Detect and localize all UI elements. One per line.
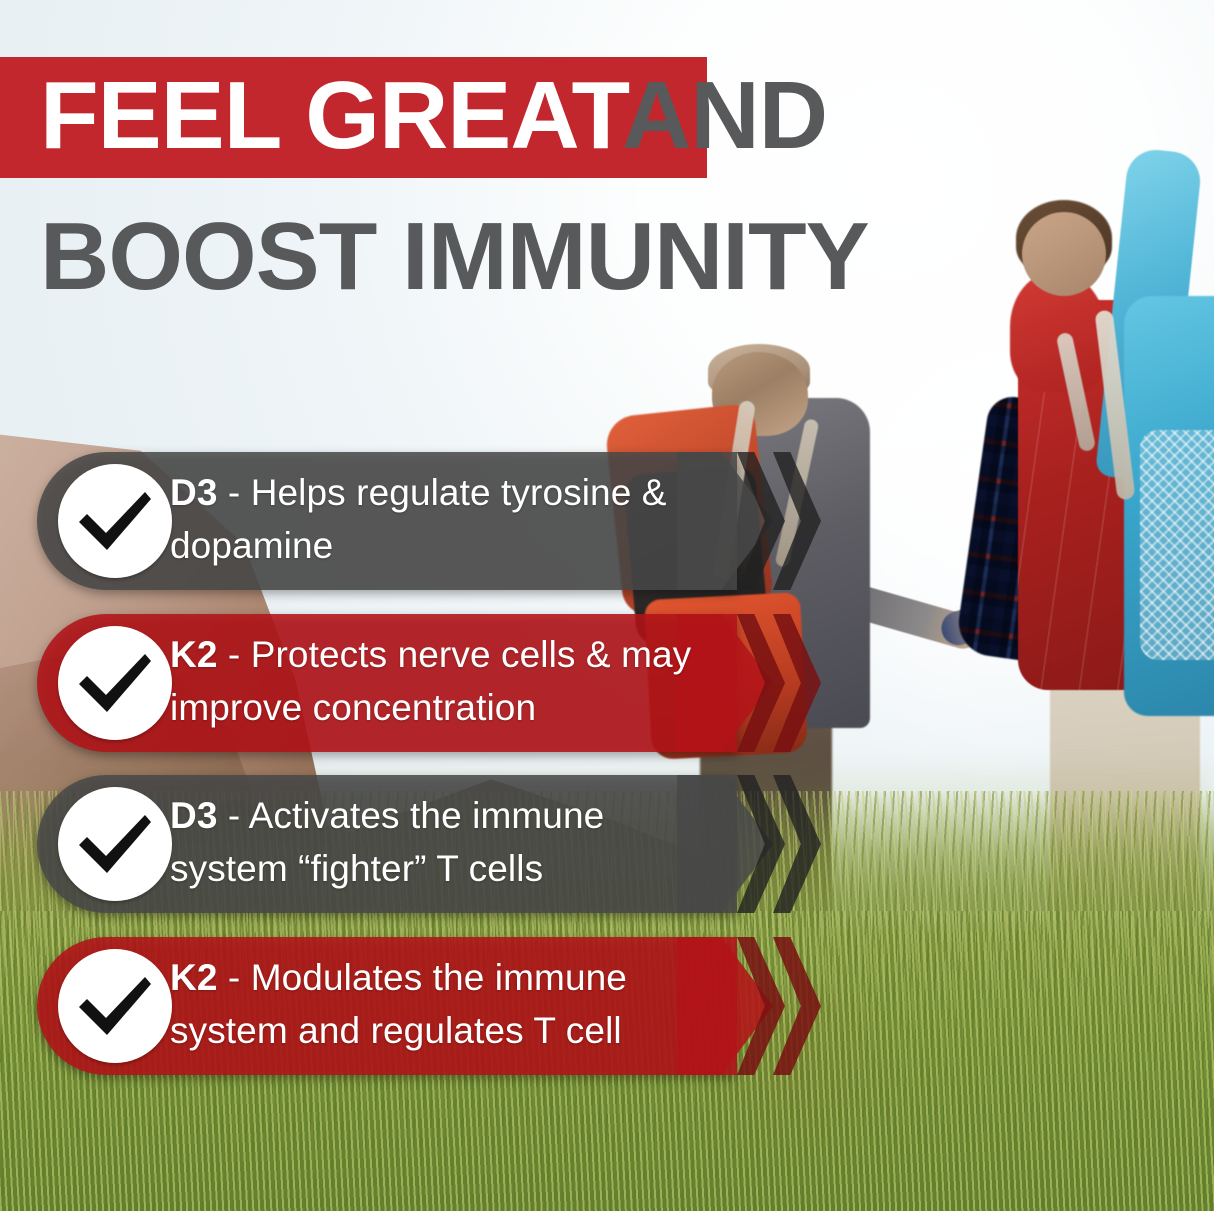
benefit-text: D3 - Helps regulate tyrosine & dopamine [170, 466, 730, 572]
benefit-nutrient: D3 [170, 472, 218, 513]
benefit-nutrient: D3 [170, 795, 218, 836]
checkmark-icon [75, 650, 155, 716]
benefit-list: D3 - Helps regulate tyrosine & dopamine … [0, 0, 1214, 1211]
chevron-arrow-icon [773, 614, 821, 752]
benefit-separator: - [218, 795, 249, 836]
benefit-nutrient: K2 [170, 634, 218, 675]
checkmark-badge [58, 949, 172, 1063]
checkmark-badge [58, 626, 172, 740]
benefit-separator: - [218, 957, 251, 998]
benefit-text: K2 - Modulates the immune system and reg… [170, 951, 730, 1057]
benefit-separator: - [218, 472, 251, 513]
checkmark-icon [75, 811, 155, 877]
chevron-arrow-icon [773, 452, 821, 590]
checkmark-badge [58, 464, 172, 578]
promo-image: FEEL GREATAND BOOST IMMUNITY D3 - Helps … [0, 0, 1214, 1211]
benefit-text: D3 - Activates the immune system “fighte… [170, 789, 730, 895]
checkmark-icon [75, 973, 155, 1039]
checkmark-icon [75, 488, 155, 554]
chevron-arrow-icon [773, 775, 821, 913]
benefit-separator: - [218, 634, 251, 675]
checkmark-badge [58, 787, 172, 901]
benefit-nutrient: K2 [170, 957, 218, 998]
chevron-arrow-icon [773, 937, 821, 1075]
benefit-text: K2 - Protects nerve cells & may improve … [170, 628, 730, 734]
